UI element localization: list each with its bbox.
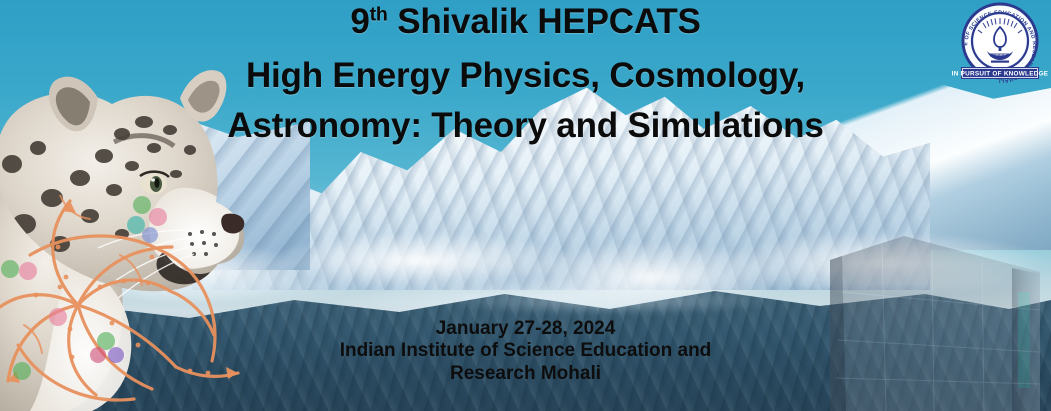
conference-dates: January 27-28, 2024	[0, 318, 1051, 340]
institute-name-line-2: Research Mohali	[0, 363, 1051, 385]
conference-banner: 9th Shivalik HEPCATS High Energy Physics…	[0, 0, 1051, 411]
institute-name-line-1: Indian Institute of Science Education an…	[0, 340, 1051, 362]
venue-block: January 27-28, 2024 Indian Institute of …	[0, 318, 1051, 385]
iiser-mohali-logo: INDIAN INSTITUTE OF SCIENCE EDUCATION AN…	[951, 1, 1049, 83]
logo-motto: IN PURSUIT OF KNOWLEDGE	[952, 71, 1049, 78]
